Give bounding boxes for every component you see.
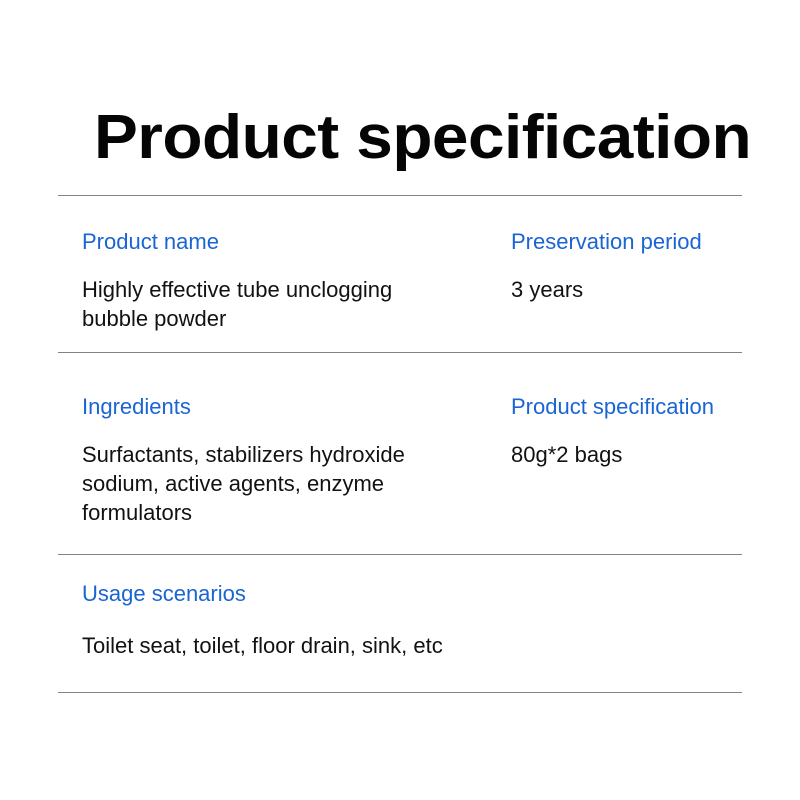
field-label-product-specification: Product specification <box>511 392 786 422</box>
field-label-ingredients: Ingredients <box>82 392 482 422</box>
field-value-ingredients: Surfactants, stabilizers hydroxide sodiu… <box>82 440 454 527</box>
divider-bottom <box>58 692 742 693</box>
field-value-product-specification: 80g*2 bags <box>511 440 781 469</box>
field-value-product-name: Highly effective tube unclogging bubble … <box>82 275 454 333</box>
divider-after-row-1 <box>58 352 742 353</box>
spec-field-usage-scenarios: Usage scenarios Toilet seat, toilet, flo… <box>82 579 682 660</box>
product-specification-sheet: Product specification Product name Highl… <box>0 0 800 800</box>
spec-field-preservation-period: Preservation period 3 years <box>511 227 786 304</box>
field-label-product-name: Product name <box>82 227 482 257</box>
spec-field-product-specification: Product specification 80g*2 bags <box>511 392 786 469</box>
field-label-usage-scenarios: Usage scenarios <box>82 579 682 609</box>
field-value-usage-scenarios: Toilet seat, toilet, floor drain, sink, … <box>82 631 642 660</box>
spec-field-product-name: Product name Highly effective tube unclo… <box>82 227 482 333</box>
field-label-preservation-period: Preservation period <box>511 227 786 257</box>
page-title: Product specification <box>94 100 751 176</box>
divider-top <box>58 195 742 196</box>
divider-after-row-2 <box>58 554 742 555</box>
field-value-preservation-period: 3 years <box>511 275 781 304</box>
spec-field-ingredients: Ingredients Surfactants, stabilizers hyd… <box>82 392 482 527</box>
